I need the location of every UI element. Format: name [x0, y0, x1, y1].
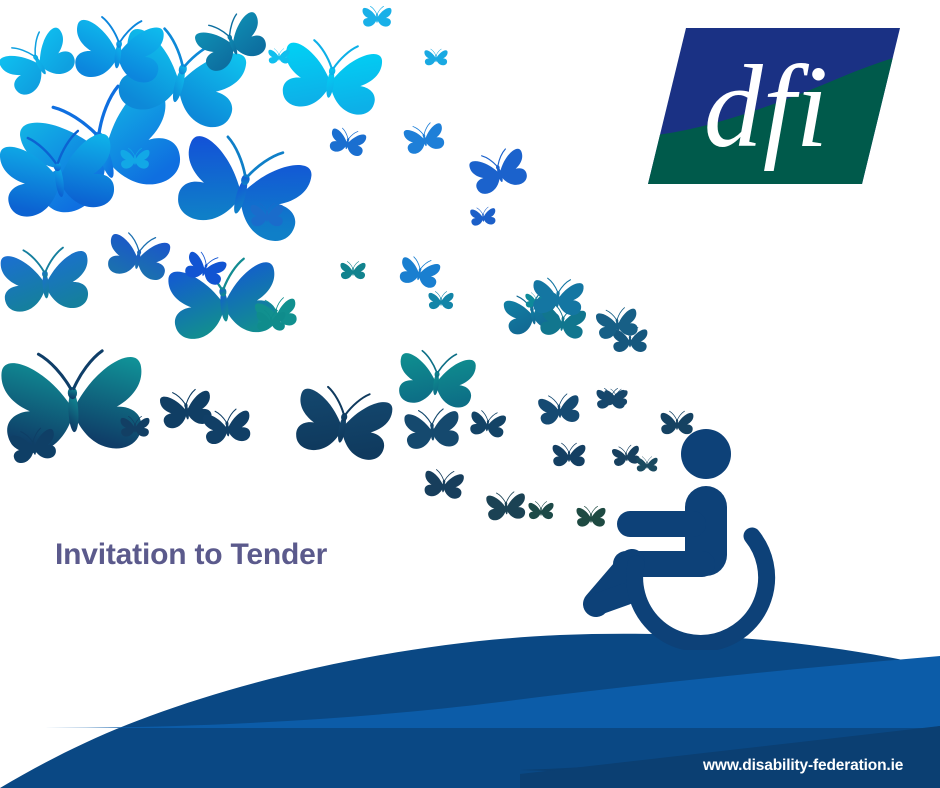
- butterfly-icon: [257, 310, 286, 330]
- butterfly-icon: [528, 501, 553, 519]
- butterfly-icon: [192, 7, 270, 74]
- butterfly-icon: [0, 246, 91, 313]
- butterfly-icon: [159, 388, 214, 430]
- butterfly-icon: [486, 491, 526, 521]
- butterfly-icon: [553, 443, 586, 466]
- butterfly-icon: [577, 506, 606, 526]
- butterfly-icon: [398, 255, 441, 290]
- butterfly-icon: [636, 457, 657, 472]
- butterfly-icon: [279, 37, 384, 118]
- page-title: Invitation to Tender: [55, 538, 327, 571]
- butterfly-icon: [470, 207, 496, 226]
- butterfly-icon: [121, 148, 150, 168]
- butterfly-icon: [469, 409, 507, 438]
- butterfly-icon: [503, 289, 563, 336]
- butterfly-icon: [105, 230, 171, 282]
- butterfly-icon: [292, 383, 395, 463]
- butterfly-icon: [363, 6, 392, 26]
- butterfly-icon: [428, 291, 453, 309]
- butterfly-icon: [613, 328, 648, 352]
- butterfly-icon: [202, 408, 252, 445]
- butterfly-icon: [423, 468, 464, 499]
- website-url[interactable]: www.disability-federation.ie: [703, 757, 903, 775]
- butterfly-icon: [254, 296, 298, 330]
- butterfly-icon: [328, 126, 367, 157]
- butterfly-icon: [403, 121, 446, 156]
- wheelchair-shin: [596, 562, 632, 604]
- butterfly-icon: [604, 389, 627, 405]
- swoosh-shape-light: [44, 656, 940, 728]
- butterfly-icon: [121, 416, 150, 436]
- butterfly-icon: [595, 306, 639, 340]
- wheelchair-wheel: [635, 536, 767, 643]
- butterfly-icon: [532, 277, 585, 316]
- butterfly-icon: [597, 388, 626, 408]
- butterfly-icon: [167, 256, 280, 341]
- logo-wordmark: dfi: [704, 41, 829, 172]
- butterfly-icon: [72, 14, 165, 84]
- butterfly-icon: [9, 426, 58, 464]
- butterfly-icon: [14, 74, 189, 220]
- logo-blue-field: [648, 18, 900, 194]
- butterfly-icon: [0, 23, 80, 100]
- butterfly-icon: [611, 444, 640, 467]
- bottom-wave-graphic: [0, 0, 940, 788]
- poster-canvas: Invitation to Tender Disability Federati…: [0, 0, 940, 788]
- butterfly-icon: [468, 145, 530, 196]
- logo-green-field: [648, 56, 900, 194]
- dfi-logo: Disability Federation of Ireland logo df…: [648, 18, 900, 194]
- butterfly-icon: [661, 411, 694, 434]
- butterfly-swarm: [0, 0, 940, 788]
- footer-band: [520, 726, 940, 784]
- wheelchair-torso: [685, 486, 727, 576]
- butterfly-icon: [171, 127, 316, 246]
- butterfly-icon: [340, 261, 365, 279]
- wheelchair-head: [681, 429, 731, 479]
- wheelchair-foot: [598, 594, 626, 604]
- butterfly-icon: [251, 203, 284, 226]
- wheelchair-accessibility-icon: [580, 418, 800, 650]
- butterfly-icon: [0, 349, 145, 454]
- butterfly-icon: [396, 349, 476, 409]
- butterfly-icon: [268, 49, 289, 64]
- butterfly-icon: [112, 21, 250, 132]
- butterfly-icon: [538, 393, 581, 426]
- butterfly-icon: [183, 249, 228, 287]
- butterfly-icon: [0, 127, 119, 220]
- butterfly-icon: [525, 293, 546, 308]
- butterfly-icon: [424, 49, 447, 65]
- butterfly-icon: [404, 408, 461, 450]
- butterfly-icon: [539, 303, 587, 340]
